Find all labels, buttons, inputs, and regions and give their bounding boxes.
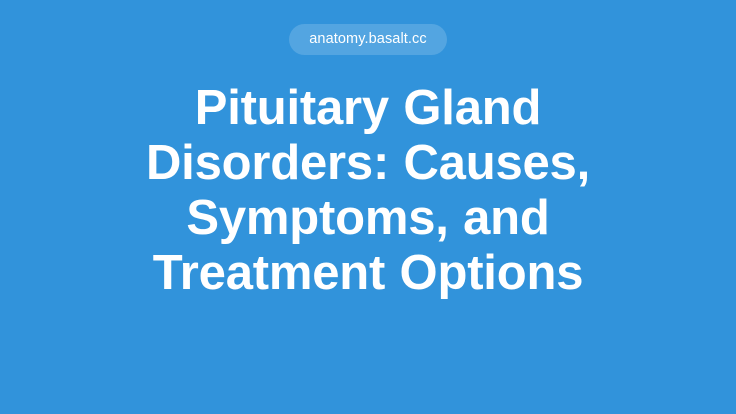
page-title-line-3: Symptoms, and — [40, 191, 696, 246]
page-title: Pituitary Gland Disorders: Causes, Sympt… — [0, 81, 736, 301]
domain-badge-label: anatomy.basalt.cc — [309, 32, 427, 47]
page-title-line-2: Disorders: Causes, — [40, 136, 696, 191]
social-share-card: anatomy.basalt.cc Pituitary Gland Disord… — [0, 0, 736, 414]
page-title-line-4: Treatment Options — [40, 246, 696, 301]
domain-badge: anatomy.basalt.cc — [289, 24, 447, 55]
page-title-line-1: Pituitary Gland — [40, 81, 696, 136]
